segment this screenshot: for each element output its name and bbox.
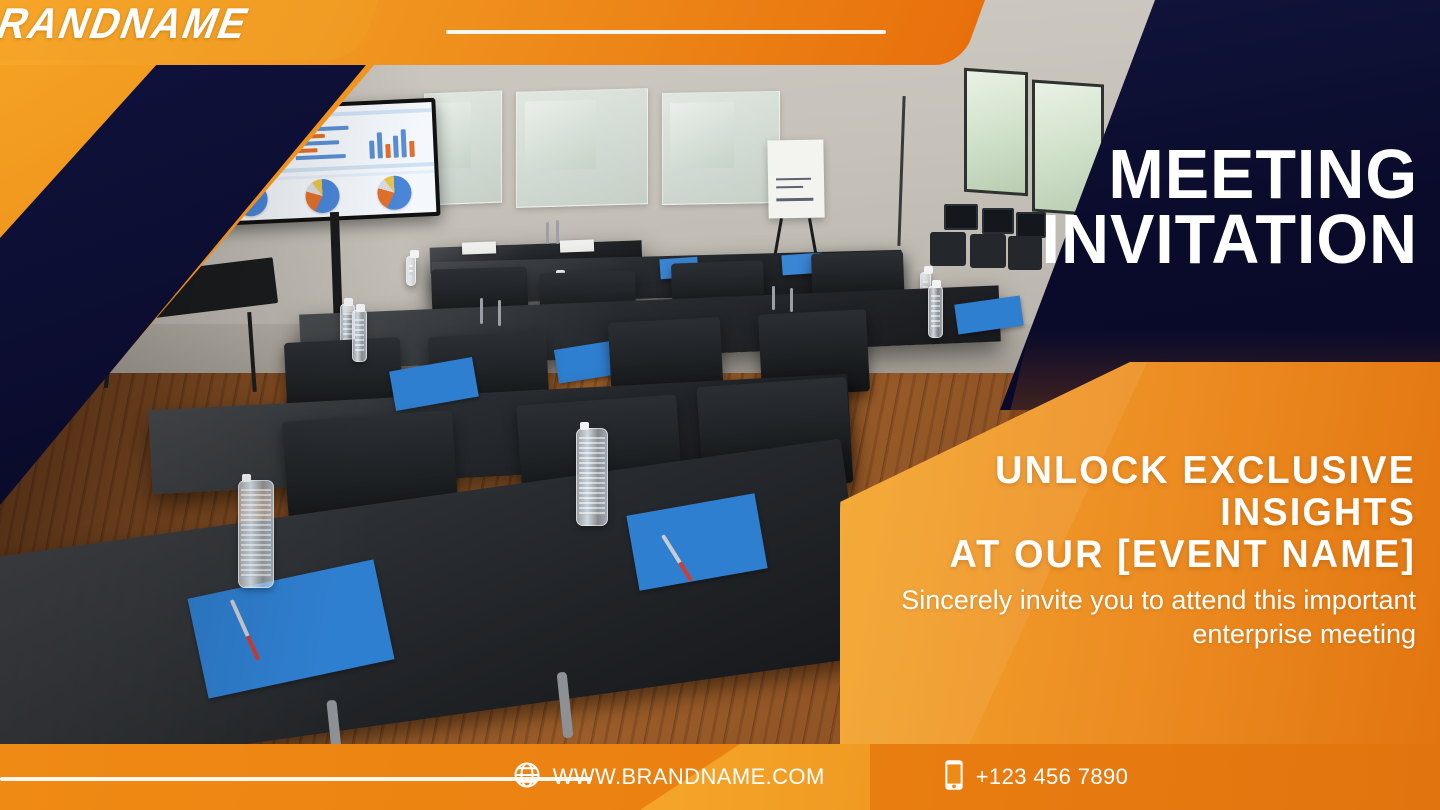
footer-contacts: WWW.BRANDNAME.COM +123 456 7890 — [0, 744, 1440, 810]
headline-line-2: AT OUR [EVENT NAME] — [853, 534, 1416, 576]
globe-icon — [512, 760, 542, 795]
invitation-poster: BRANDNAME MEETING INVITATION UNLOCK EXCL… — [0, 0, 1440, 810]
invitation-message: Sincerely invite you to attend this impo… — [816, 583, 1416, 652]
headline-line-1: UNLOCK EXCLUSIVE INSIGHTS — [853, 450, 1416, 534]
website-contact[interactable]: WWW.BRANDNAME.COM — [512, 760, 825, 795]
title-line-2: INVITATION — [1019, 207, 1418, 272]
page-title: MEETING INVITATION — [998, 142, 1418, 272]
mobile-phone-icon — [943, 759, 965, 796]
phone-contact[interactable]: +123 456 7890 — [943, 759, 1129, 796]
brand-plate: BRANDNAME — [0, 0, 383, 60]
brand-name: BRANDNAME — [0, 0, 309, 50]
headline: UNLOCK EXCLUSIVE INSIGHTS AT OUR [EVENT … — [836, 450, 1416, 576]
header-divider-line — [446, 30, 886, 34]
website-text: WWW.BRANDNAME.COM — [553, 764, 825, 790]
phone-text: +123 456 7890 — [976, 764, 1129, 790]
title-line-1: MEETING — [1019, 142, 1418, 207]
